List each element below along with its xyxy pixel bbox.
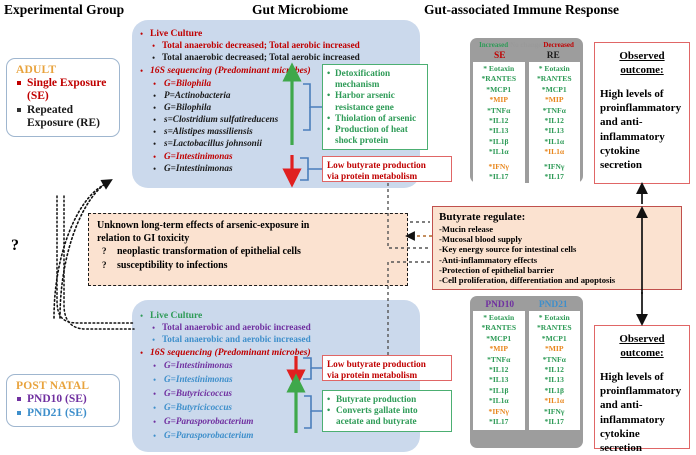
cytokine-item: *IL17	[530, 417, 580, 427]
unknown-effects-box: Unknown long-term effects of arsenic-exp…	[88, 213, 408, 286]
butyrate-prod-item: • Butyrate production	[327, 394, 447, 405]
low-butyrate-box-bottom: Low butyrate production via protein meta…	[322, 355, 452, 381]
detox-item: • Harbor arsenic resistance gene	[327, 90, 423, 112]
cytokine-item: *IL13	[530, 375, 580, 385]
bullet-icon: •	[152, 323, 155, 333]
outcome-title-line1: Observed	[600, 49, 684, 63]
cytokine-item: *MIP	[474, 95, 524, 105]
bullet-icon: •	[327, 90, 330, 101]
adult-culture-re: Total anaerobic decreased; Total aerobic…	[162, 52, 360, 62]
group-box-postnatal[interactable]: POST NATAL PND10 (SE) PND21 (SE)	[6, 374, 120, 427]
butyrate-regulate-item: -Mucosal blood supply	[439, 234, 675, 244]
adult-microbe: G=Intestinimonas	[164, 163, 233, 173]
outcome-body: High levels of proinflammatory and anti-…	[600, 370, 684, 455]
group-item-label: PND10 (SE)	[27, 393, 87, 405]
detox-item: • Production of heat shock protein	[327, 124, 423, 146]
bullet-icon: •	[153, 431, 156, 441]
unknown-sub-label: susceptibility to infections	[117, 260, 228, 271]
bullet-icon: •	[327, 405, 330, 416]
cytokine-item: *TNFα	[474, 355, 524, 365]
adult-seq-heading: 16S sequencing (Predominant microbes)	[150, 65, 311, 76]
cytokine-col-head-se: SE	[473, 50, 527, 62]
group-item-label: Repeated Exposure (RE)	[27, 104, 100, 129]
cytokine-item: *IFNγ	[474, 407, 524, 417]
cytokine-item: *RANTES	[530, 74, 580, 84]
adult-microbe: G=Intestinimonas	[164, 151, 233, 161]
pn-culture-pnd21: Total anaerobic and aerobic increased	[162, 334, 311, 344]
adult-live-culture-heading: Live Culture	[150, 28, 202, 39]
cytokine-item: *IL1α	[474, 396, 524, 406]
butyrate-prod-label: Butyrate production	[336, 394, 416, 404]
butyrate-regulate-item: -Key energy source for intestinal cells	[439, 244, 675, 254]
group-title-postnatal: POST NATAL	[16, 380, 112, 392]
unknown-sub-label: neoplastic transformation of epithelial …	[117, 246, 301, 257]
bullet-square-icon	[17, 81, 21, 85]
outcome-title-line2: outcome:	[600, 63, 684, 77]
cytokine-item: *IL1α	[474, 147, 524, 157]
cytokine-item: *IL1β	[474, 137, 524, 147]
bullet-icon: •	[153, 139, 156, 149]
pn-microbe: G=Butyricicoccus	[164, 402, 232, 412]
detox-item-label: Production of heat shock protein	[335, 124, 408, 145]
bullet-icon: •	[140, 66, 143, 76]
cytokine-table-postnatal: PND10 PND21 * Eotaxin *RANTES *MCP1 *MIP…	[470, 296, 583, 448]
cytokine-item: *IL1α	[530, 137, 580, 147]
cytokine-legend: Increased/No change/Decreased	[473, 41, 580, 50]
cytokine-item: *TNFα	[474, 106, 524, 116]
legend-no-change: No change	[510, 41, 541, 49]
header-experimental-group: Experimental Group	[4, 2, 124, 18]
adult-microbe: G=Bilophila	[164, 102, 211, 112]
bullet-icon: •	[327, 124, 330, 135]
cytokine-item: *TNFα	[530, 355, 580, 365]
bullet-icon: •	[153, 417, 156, 427]
detox-item: • Thiolation of arsenic	[327, 113, 423, 124]
bullet-icon: •	[152, 335, 155, 345]
adult-microbe: s=Lactobacillus johnsonii	[164, 138, 262, 148]
bullet-icon: •	[153, 91, 156, 101]
pn-microbe: G=Intestinimonas	[164, 374, 233, 384]
outcome-title-line2: outcome:	[600, 346, 684, 360]
bullet-icon: •	[153, 79, 156, 89]
unknown-line-1: Unknown long-term effects of arsenic-exp…	[97, 220, 399, 233]
group-item-label: PND21 (SE)	[27, 407, 87, 419]
bullet-square-icon	[17, 108, 21, 112]
cytokine-item: *IL17	[530, 172, 580, 182]
group-item-pnd10[interactable]: PND10 (SE)	[16, 393, 112, 406]
cytokine-column-re: * Eotaxin *RANTES *MCP1 *MIP *TNFα *IL12…	[529, 62, 581, 185]
bullet-icon: •	[153, 403, 156, 413]
cytokine-col-head-re: RE	[527, 50, 581, 62]
bullet-icon: •	[153, 103, 156, 113]
bullet-icon: •	[140, 311, 143, 321]
cytokine-columns: * Eotaxin *RANTES *MCP1 *MIP *TNFα *IL12…	[473, 311, 580, 430]
cytokine-item: * Eotaxin	[474, 313, 524, 323]
bullet-icon: •	[153, 361, 156, 371]
cytokine-item: *MIP	[474, 344, 524, 354]
cytokine-item: *IL1β	[474, 386, 524, 396]
observed-outcome-box-adult: Observed outcome: High levels of proinfl…	[594, 42, 690, 184]
cytokine-item: *MCP1	[474, 334, 524, 344]
cytokine-item: *MIP	[530, 344, 580, 354]
cytokine-item: *IFNγ	[530, 407, 580, 417]
unknown-sub-1: ? neoplastic transformation of epithelia…	[97, 245, 399, 258]
cytokine-column-pnd21: * Eotaxin *RANTES *MCP1 *MIP *TNFα *IL12…	[529, 311, 581, 430]
pn-culture-pnd10: Total anaerobic and aerobic increased	[162, 322, 311, 332]
outcome-body: High levels of proinflammatory and anti-…	[600, 87, 684, 172]
cytokine-item: *IL13	[474, 126, 524, 136]
cytokine-item: *IL12	[474, 365, 524, 375]
cytokine-item: *IL1β	[530, 386, 580, 396]
cytokine-item: *IL12	[474, 116, 524, 126]
question-mark-icon: ?	[102, 259, 107, 272]
cytokine-item: *IL1α	[530, 396, 580, 406]
detox-item-label: Harbor arsenic resistance gene	[335, 90, 395, 111]
butyrate-prod-item: • Converts gallate into acetate and buty…	[327, 405, 447, 427]
cytokine-item: *RANTES	[530, 323, 580, 333]
bullet-icon: •	[327, 394, 330, 405]
butyrate-regulate-item: -Protection of epithelial barrier	[439, 265, 675, 275]
pn-microbe: G=Parasporobacterium	[164, 430, 253, 440]
question-mark-label: ?	[11, 237, 19, 255]
adult-microbe: G=Bilophila	[164, 78, 211, 88]
adult-culture-se: Total anaerobic decreased; Total aerobic…	[162, 40, 360, 50]
cytokine-item: *MCP1	[530, 85, 580, 95]
low-butyrate-box-top: Low butyrate production via protein meta…	[322, 156, 452, 182]
butyrate-regulate-item: -Anti-inflammatory effects	[439, 255, 675, 265]
unknown-sub-2: ? susceptibility to infections	[97, 259, 399, 272]
low-butyrate-line: Low butyrate production	[327, 359, 447, 370]
bullet-icon: •	[153, 164, 156, 174]
pn-microbe: G=Intestinimonas	[164, 360, 233, 370]
cytokine-item: * Eotaxin	[530, 64, 580, 74]
adult-microbe: P=Actinobacteria	[164, 90, 230, 100]
bullet-icon: •	[152, 41, 155, 51]
butyrate-prod-label: Converts gallate into acetate and butyra…	[336, 405, 418, 426]
header-gut-microbiome: Gut Microbiome	[252, 2, 348, 18]
cytokine-table-adult: Increased/No change/Decreased SE RE * Eo…	[470, 38, 583, 183]
bullet-icon: •	[140, 348, 143, 358]
bullet-square-icon	[17, 411, 21, 415]
cytokine-item: * Eotaxin	[474, 64, 524, 74]
pn-seq-heading: 16S sequencing (Predominant microbes)	[150, 347, 311, 358]
group-item-label: Single Exposure (SE)	[27, 77, 106, 102]
low-butyrate-line: via protein metabolism	[327, 171, 447, 182]
header-immune-response: Gut-associated Immune Response	[424, 2, 619, 18]
bullet-icon: •	[152, 53, 155, 63]
butyrate-production-box: • Butyrate production • Converts gallate…	[322, 390, 452, 432]
legend-decreased: Decreased	[543, 41, 574, 49]
bullet-icon: •	[140, 29, 143, 39]
cytokine-column-headers: PND10 PND21	[473, 299, 580, 311]
observed-outcome-box-postnatal: Observed outcome: High levels of proinfl…	[594, 325, 690, 449]
detoxification-box: • Detoxification mechanism • Harbor arse…	[322, 64, 428, 150]
cytokine-item: *IL12	[530, 116, 580, 126]
adult-microbe: s=Alistipes massiliensis	[164, 126, 253, 136]
cytokine-item: *IL12	[530, 365, 580, 375]
cytokine-col-head-pnd21: PND21	[527, 299, 581, 311]
cytokine-item: *IL13	[474, 375, 524, 385]
cytokine-item: *IFNγ	[474, 162, 524, 172]
cytokine-item: *RANTES	[474, 323, 524, 333]
cytokine-item: *IL1α	[530, 147, 580, 157]
cytokine-item: *IL17	[474, 417, 524, 427]
legend-increased: Increased	[479, 41, 508, 49]
cytokine-column-se: * Eotaxin *RANTES *MCP1 *MIP *TNFα *IL12…	[473, 62, 525, 185]
cytokine-col-head-pnd10: PND10	[473, 299, 527, 311]
detox-item-label: Thiolation of arsenic	[335, 113, 416, 123]
cytokine-column-pnd10: * Eotaxin *RANTES *MCP1 *MIP *TNFα *IL12…	[473, 311, 525, 430]
butyrate-regulate-item: -Cell proliferation, differentiation and…	[439, 275, 675, 285]
bullet-icon: •	[153, 389, 156, 399]
unknown-line-2: relation to GI toxicity	[97, 233, 399, 246]
cytokine-item: *IFNγ	[530, 162, 580, 172]
detox-item: • Detoxification mechanism	[327, 68, 423, 90]
cytokine-item: *IL13	[530, 126, 580, 136]
bullet-square-icon	[17, 397, 21, 401]
cytokine-item: *RANTES	[474, 74, 524, 84]
cytokine-item: *MCP1	[530, 334, 580, 344]
cytokine-column-headers: SE RE	[473, 50, 580, 62]
bullet-icon: •	[153, 152, 156, 162]
cytokine-item: *MIP	[530, 95, 580, 105]
cytokine-columns: * Eotaxin *RANTES *MCP1 *MIP *TNFα *IL12…	[473, 62, 580, 185]
cytokine-item: *IL17	[474, 172, 524, 182]
group-title-adult: ADULT	[16, 64, 112, 76]
adult-microbe: s=Clostridium sulfatireducens	[164, 114, 278, 124]
group-item-pnd21[interactable]: PND21 (SE)	[16, 407, 112, 420]
outcome-title-line1: Observed	[600, 332, 684, 346]
bullet-icon: •	[327, 68, 330, 79]
butyrate-regulate-box: Butyrate regulate: -Mucin release -Mucos…	[432, 206, 682, 290]
low-butyrate-line: via protein metabolism	[327, 370, 447, 381]
group-item-repeated-exposure[interactable]: Repeated Exposure (RE)	[16, 104, 112, 130]
low-butyrate-line: Low butyrate production	[327, 160, 447, 171]
bullet-icon: •	[153, 127, 156, 137]
butyrate-regulate-title: Butyrate regulate:	[439, 211, 675, 223]
pn-microbe: G=Parasporobacterium	[164, 416, 253, 426]
cytokine-item: *TNFα	[530, 106, 580, 116]
pn-live-culture-heading: Live Culture	[150, 310, 202, 321]
question-mark-icon: ?	[102, 245, 107, 258]
group-item-single-exposure[interactable]: Single Exposure (SE)	[16, 77, 112, 103]
group-box-adult[interactable]: ADULT Single Exposure (SE) Repeated Expo…	[6, 58, 120, 137]
bullet-icon: •	[327, 113, 330, 124]
bullet-icon: •	[153, 375, 156, 385]
cytokine-item: *MCP1	[474, 85, 524, 95]
pn-microbe: G=Butyricicoccus	[164, 388, 232, 398]
cytokine-item: * Eotaxin	[530, 313, 580, 323]
detox-item-label: Detoxification mechanism	[335, 68, 390, 89]
butyrate-regulate-item: -Mucin release	[439, 224, 675, 234]
bullet-icon: •	[153, 115, 156, 125]
